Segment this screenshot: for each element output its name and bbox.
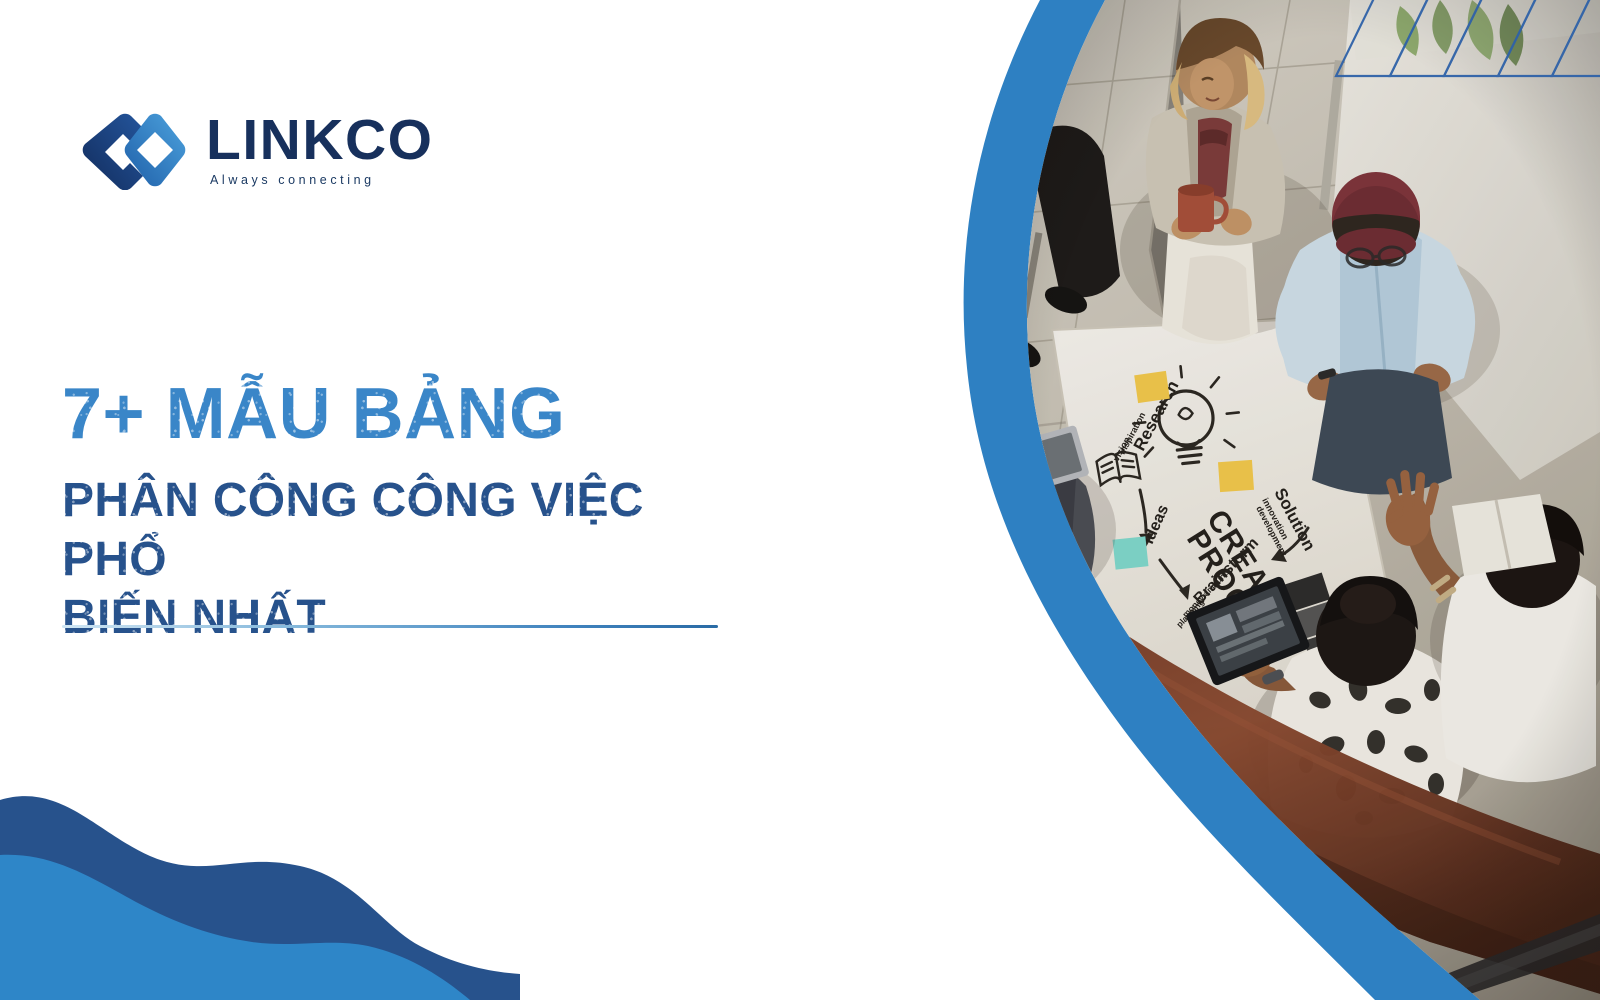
table-surface <box>1330 0 1600 480</box>
svg-text:CREATIVE: CREATIVE <box>1200 504 1311 655</box>
brainstorm-poster <box>1052 318 1410 742</box>
svg-text:Brainstorm: Brainstorm <box>1191 535 1263 608</box>
brand-logo[interactable]: LINKCO Always connecting <box>78 110 433 190</box>
person-woman-white-right <box>1381 470 1600 783</box>
headline-primary: 7+ MẪU BẢNG <box>62 378 742 450</box>
slide-canvas: Research inspiration vision Ideas Brains… <box>0 0 1600 1000</box>
team-photo: Research inspiration vision Ideas Brains… <box>944 0 1600 1000</box>
svg-text:money amount: money amount <box>1180 569 1229 620</box>
person-woman-blazer <box>1120 18 1340 344</box>
sticky-notes <box>1113 371 1335 676</box>
svg-text:Solution: Solution <box>1270 485 1319 554</box>
slash-pattern-watermark <box>1336 0 1600 76</box>
person-woman-tablet <box>1185 575 1488 837</box>
svg-text:Research: Research <box>1130 377 1183 454</box>
svg-text:inspiration: inspiration <box>1117 411 1147 456</box>
poster-labels: Research inspiration vision Ideas Brains… <box>1111 377 1319 672</box>
svg-text:innovation: innovation <box>1260 496 1290 541</box>
accent-divider <box>62 625 718 628</box>
person-woman-long-hair-bottom <box>1122 788 1333 1000</box>
poster-content <box>1096 361 1308 600</box>
logo-wordmark: LINKCO Always connecting <box>206 113 433 187</box>
blue-crescent-band <box>940 0 1540 1000</box>
wave-blob-shapes <box>0 760 520 1000</box>
person-laptop-left <box>944 410 1116 736</box>
logo-name: LINKCO <box>206 113 433 169</box>
svg-text:vision: vision <box>1111 435 1132 463</box>
headline-block: 7+ MẪU BẢNG PHÂN CÔNG CÔNG VIỆC PHỔ BIẾN… <box>62 378 742 648</box>
photo-cards <box>1284 573 1350 666</box>
svg-text:planning: planning <box>1174 597 1206 629</box>
svg-text:Ideas: Ideas <box>1140 502 1172 546</box>
person-man-beanie <box>1275 172 1500 495</box>
headline-secondary-line1: PHÂN CÔNG CÔNG VIỆC PHỔ <box>62 472 742 589</box>
person-dark-trousers <box>991 126 1120 374</box>
logo-tagline: Always connecting <box>206 173 433 187</box>
svg-text:Design: Design <box>1266 594 1306 654</box>
headline-secondary: PHÂN CÔNG CÔNG VIỆC PHỔ BIẾN NHẤT <box>62 472 742 648</box>
interlocking-diamonds-logo-icon <box>78 110 190 190</box>
decorative-wave-blob <box>0 760 520 1000</box>
wooden-bench <box>1000 560 1600 1000</box>
raised-hand <box>1381 470 1440 550</box>
headline-secondary-line2: BIẾN NHẤT <box>62 589 326 648</box>
svg-text:PROCESS: PROCESS <box>1180 524 1289 672</box>
headline-primary-text: 7+ MẪU BẢNG <box>62 378 566 450</box>
svg-text:development: development <box>1254 504 1289 558</box>
plant <box>1396 0 1523 66</box>
